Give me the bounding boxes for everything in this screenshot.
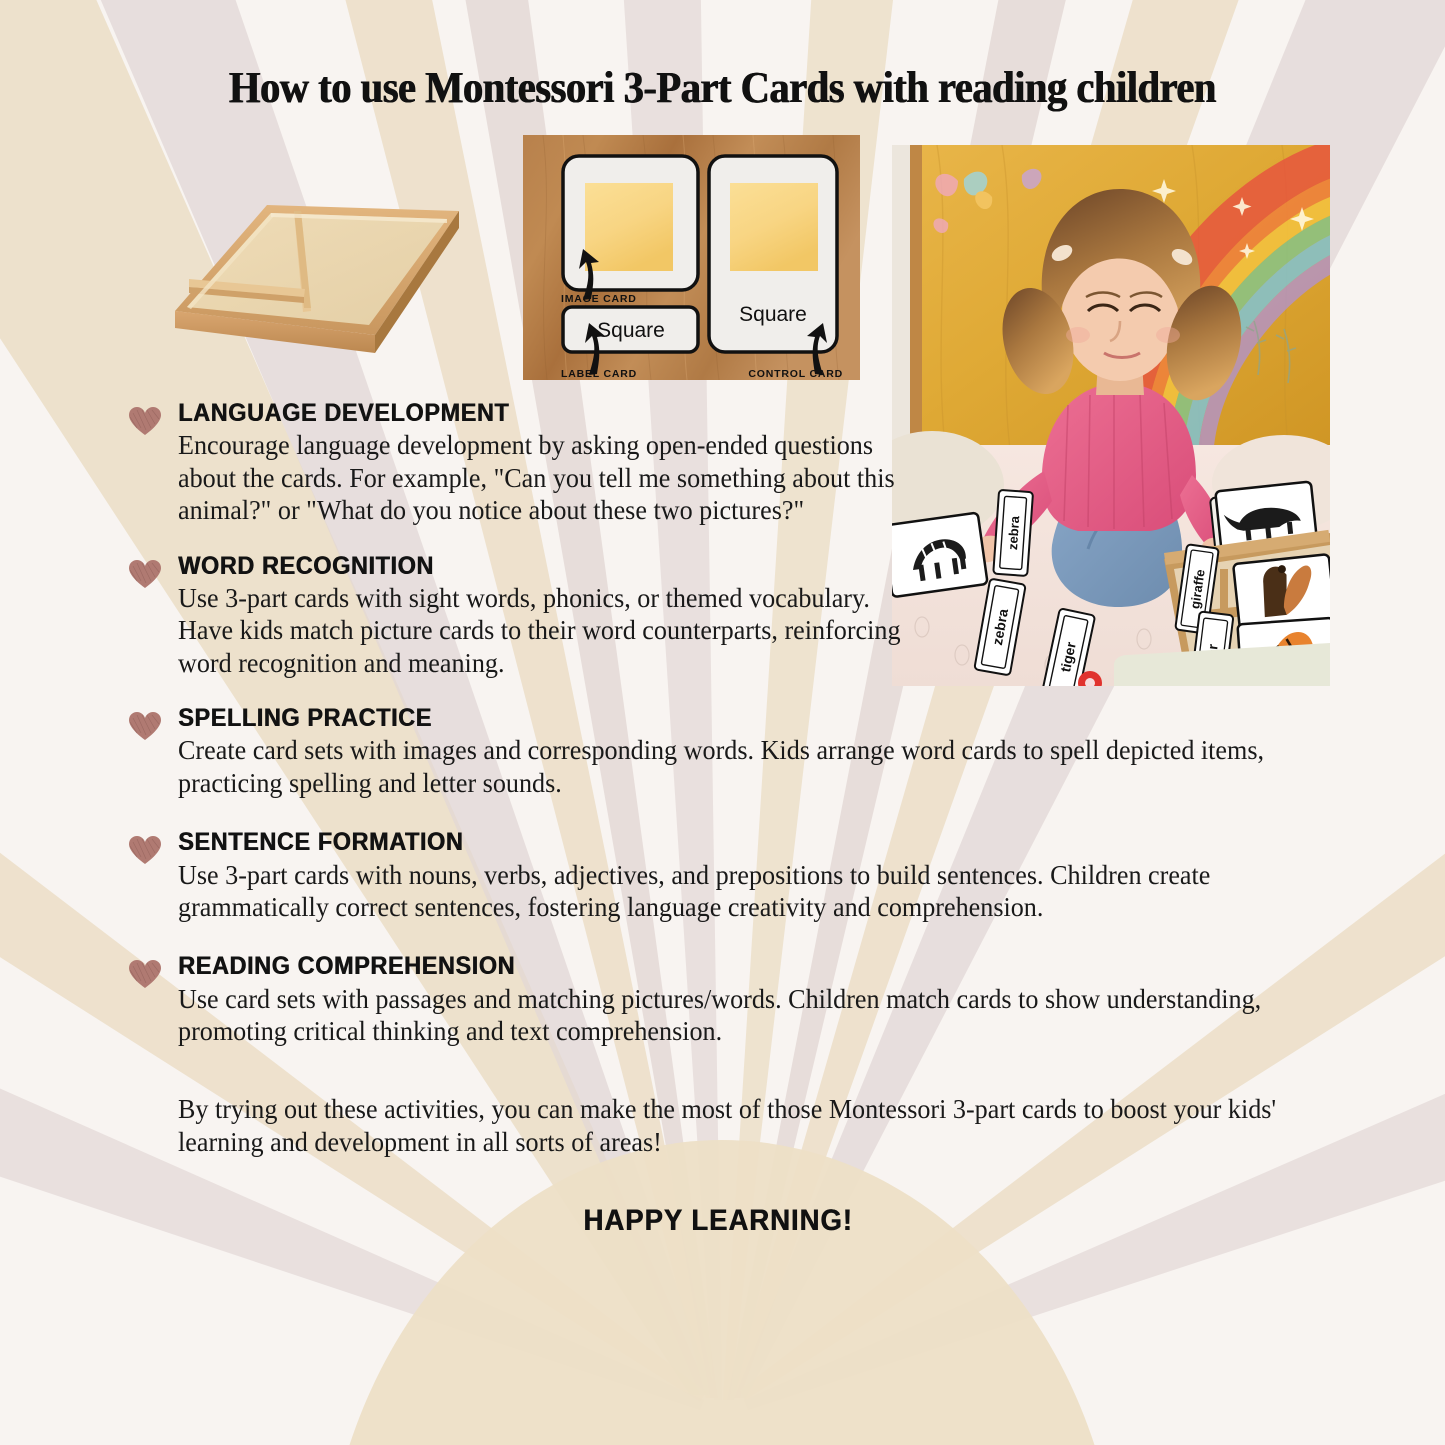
section-heading: SENTENCE FORMATION (178, 829, 1273, 855)
section-heading: WORD RECOGNITION (178, 553, 1273, 579)
diagram-label-label-card: LABEL CARD (561, 368, 637, 380)
outro-paragraph: By trying out these activities, you can … (178, 1092, 1318, 1158)
label-card-word: Square (597, 319, 665, 342)
heart-icon (128, 711, 162, 741)
section-body: Use card sets with passages and matching… (178, 983, 1347, 1048)
section-language-development: LANGUAGE DEVELOPMENT Encourage language … (128, 400, 1343, 527)
section-body: Use 3-part cards with nouns, verbs, adje… (178, 859, 1347, 924)
diagram-label-image-card: IMAGE CARD (561, 293, 637, 305)
diagram-svg: Square Square IMAGE CARD LABEL CARD CONT… (523, 135, 860, 380)
section-body: Create card sets with images and corresp… (178, 734, 1347, 799)
control-card-word: Square (739, 303, 807, 326)
section-heading: READING COMPREHENSION (178, 953, 1273, 979)
heart-icon (128, 406, 162, 436)
closing-message: HAPPY LEARNING! (175, 1204, 1261, 1238)
tray-icon (163, 163, 483, 363)
three-part-card-diagram: Square Square IMAGE CARD LABEL CARD CONT… (523, 135, 860, 380)
section-body: Encourage language development by asking… (178, 429, 900, 526)
content-sections: LANGUAGE DEVELOPMENT Encourage language … (128, 400, 1343, 1238)
page-title: How to use Montessori 3-Part Cards with … (58, 62, 1387, 113)
section-reading-comprehension: READING COMPREHENSION Use card sets with… (128, 953, 1343, 1047)
heart-icon (128, 559, 162, 589)
heart-icon (128, 959, 162, 989)
section-spelling-practice: SPELLING PRACTICE Create card sets with … (128, 705, 1343, 799)
diagram-label-control-card: CONTROL CARD (748, 368, 843, 380)
section-sentence-formation: SENTENCE FORMATION Use 3-part cards with… (128, 829, 1343, 923)
heart-icon (128, 835, 162, 865)
section-body: Use 3-part cards with sight words, phoni… (178, 582, 908, 679)
section-heading: SPELLING PRACTICE (178, 705, 1273, 731)
section-heading: LANGUAGE DEVELOPMENT (178, 400, 1273, 426)
wooden-sorting-tray-image (163, 163, 483, 363)
section-word-recognition: WORD RECOGNITION Use 3-part cards with s… (128, 553, 1343, 680)
